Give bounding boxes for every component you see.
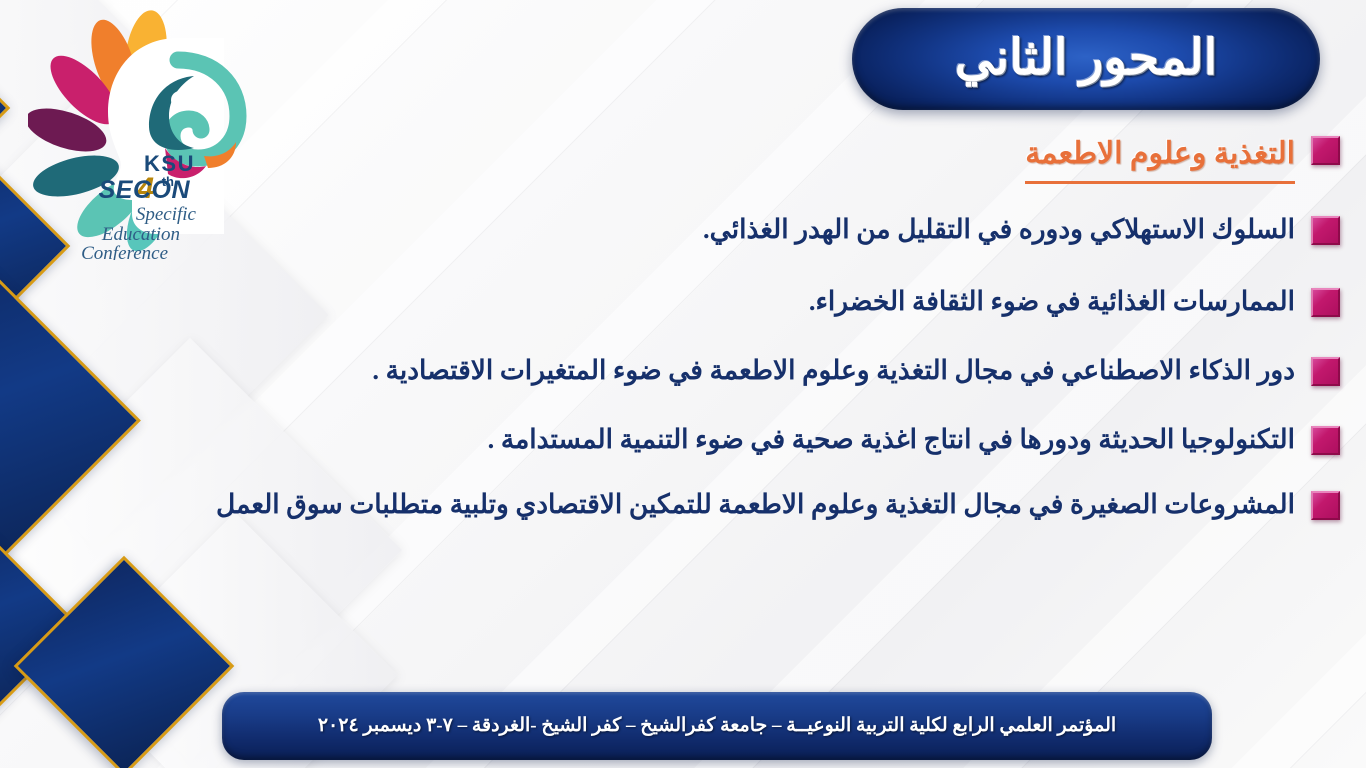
list-item: السلوك الاستهلاكي ودوره في التقليل من ال… <box>18 210 1340 249</box>
list-item-heading: التغذية وعلوم الاطعمة <box>18 132 1340 184</box>
bullet-square-icon <box>1311 288 1340 317</box>
bullet-square-icon <box>1311 216 1340 245</box>
list-item: المشروعات الصغيرة في مجال التغذية وعلوم … <box>18 485 1340 524</box>
bullet-list: التغذية وعلوم الاطعمة السلوك الاستهلاكي … <box>18 132 1340 524</box>
list-item-text: التكنولوجيا الحديثة ودورها في انتاج اغذي… <box>18 420 1295 459</box>
section-heading-text: التغذية وعلوم الاطعمة <box>18 132 1295 184</box>
list-item: الممارسات الغذائية في ضوء الثقافة الخضرا… <box>18 282 1340 321</box>
bullet-square-icon <box>1311 136 1340 165</box>
section-heading-underline: التغذية وعلوم الاطعمة <box>1025 132 1295 184</box>
footer-text: المؤتمر العلمي الرابع لكلية التربية النو… <box>318 716 1116 737</box>
list-item-text: السلوك الاستهلاكي ودوره في التقليل من ال… <box>18 210 1295 249</box>
slide-title-banner: المحور الثاني <box>852 8 1320 110</box>
list-item-text: دور الذكاء الاصطناعي في مجال التغذية وعل… <box>18 351 1295 390</box>
footer-banner: المؤتمر العلمي الرابع لكلية التربية النو… <box>222 692 1212 760</box>
bullet-square-icon <box>1311 491 1340 520</box>
presentation-slide: KSU 4 th SECON Specific Education Confer… <box>0 0 1366 768</box>
list-item-text: الممارسات الغذائية في ضوء الثقافة الخضرا… <box>18 282 1295 321</box>
list-item: التكنولوجيا الحديثة ودورها في انتاج اغذي… <box>18 420 1340 459</box>
list-item: دور الذكاء الاصطناعي في مجال التغذية وعل… <box>18 351 1340 390</box>
bullet-square-icon <box>1311 357 1340 386</box>
list-item-text: المشروعات الصغيرة في مجال التغذية وعلوم … <box>18 485 1295 524</box>
bullet-square-icon <box>1311 426 1340 455</box>
page-title: المحور الثاني <box>955 33 1217 86</box>
